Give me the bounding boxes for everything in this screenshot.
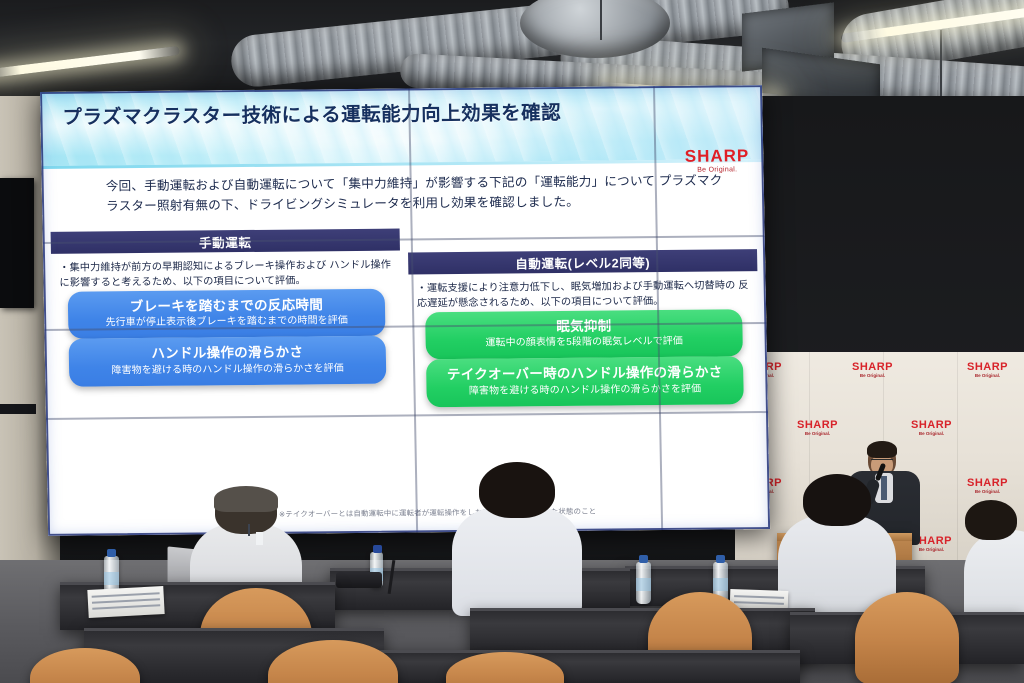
metric-chip-drowsiness-suppression: 眠気抑制 運転中の顔表情を5段階の眠気レベルで評価 (425, 309, 743, 360)
water-bottle (636, 562, 651, 604)
chip-subtitle: 障害物を避ける時のハンドル操作の滑らかさを評価 (75, 362, 380, 377)
chair (855, 592, 959, 683)
printed-handout (87, 586, 164, 618)
conduit (600, 0, 602, 40)
audience-table (470, 608, 815, 656)
backdrop-sharp-logo: SHARP Be Original. (797, 420, 838, 437)
column-note-manual: ・集中力維持が前方の早期認知によるブレーキ操作および ハンドル操作に影響すると考… (51, 258, 401, 292)
av-equipment (336, 572, 382, 588)
sharp-logo: SHARP Be Original. (685, 147, 750, 174)
audience-member (964, 500, 1024, 625)
backdrop-sharp-logo: SHARP Be Original. (967, 362, 1008, 379)
presentation-slide: プラズマクラスター技術による運転能力向上効果を確認 SHARP Be Origi… (40, 85, 770, 536)
column-header-automated: 自動運転(レベル2同等) (408, 249, 757, 274)
conference-room-photo: SHARP Be Original. SHARP Be Original. SH… (0, 0, 1024, 683)
audience-table (380, 650, 800, 683)
comparison-table: 手動運転 ・集中力維持が前方の早期認知によるブレーキ操作および ハンドル操作に影… (51, 225, 762, 530)
slide-lead-paragraph: 今回、手動運転および自動運転について「集中力維持」が影響する下記の「運転能力」に… (106, 171, 735, 216)
audience-member (778, 474, 896, 614)
metric-chip-steering-smoothness: ハンドル操作の滑らかさ 障害物を避ける時のハンドル操作の滑らかさを評価 (69, 336, 387, 387)
chip-title: ブレーキを踏むまでの反応時間 (74, 296, 379, 314)
column-manual-driving: 手動運転 ・集中力維持が前方の早期認知によるブレーキ操作および ハンドル操作に影… (51, 229, 409, 530)
video-wall-display[interactable]: プラズマクラスター技術による運転能力向上効果を確認 SHARP Be Origi… (40, 85, 770, 536)
chip-title: 眠気抑制 (431, 317, 736, 335)
wall-mounted-panel (0, 178, 34, 308)
backdrop-sharp-logo: SHARP Be Original. (911, 420, 952, 437)
column-note-automated: ・運転支援により注意力低下し、眠気増加および手動運転へ切替時の 反応遅延が懸念さ… (409, 278, 759, 312)
name-badge (256, 532, 263, 545)
chip-title: ハンドル操作の滑らかさ (75, 344, 380, 362)
chip-subtitle: 先行車が停止表示後ブレーキを踏むまでの時間を評価 (74, 315, 379, 330)
wall-trim (0, 404, 36, 414)
conduit (940, 30, 942, 105)
chip-title: テイクオーバー時のハンドル操作の滑らかさ (432, 364, 737, 382)
audience-member (452, 462, 582, 612)
column-header-manual: 手動運転 (51, 229, 400, 254)
chip-subtitle: 障害物を避ける時のハンドル操作の滑らかさを評価 (432, 383, 737, 398)
ceiling-light (0, 46, 180, 79)
chip-subtitle: 運転中の顔表情を5段階の眠気レベルで評価 (432, 335, 737, 350)
metric-chip-takeover-steering: テイクオーバー時のハンドル操作の滑らかさ 障害物を避ける時のハンドル操作の滑らか… (426, 356, 744, 407)
backdrop-sharp-logo: SHARP Be Original. (852, 362, 893, 379)
backdrop-sharp-logo: SHARP Be Original. (967, 478, 1008, 495)
metric-chip-brake-reaction: ブレーキを踏むまでの反応時間 先行車が停止表示後ブレーキを踏むまでの時間を評価 (68, 288, 386, 339)
